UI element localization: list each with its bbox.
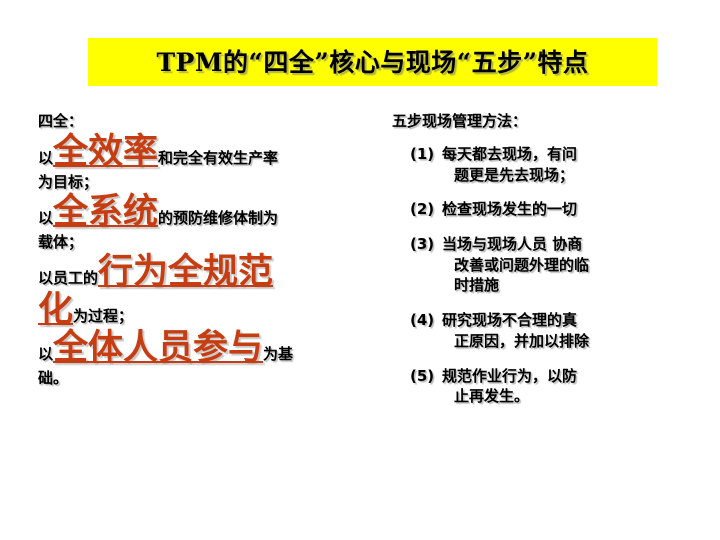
emphasis-run-all-system: 全系统 xyxy=(53,191,158,232)
list-item-line: 规范作业行为，以防 xyxy=(442,367,577,385)
plain-run: 以 xyxy=(38,345,53,363)
list-item-line: 改善或问题外理的临 xyxy=(442,256,589,274)
list-item-line: 时措施 xyxy=(442,276,499,294)
list-item-text: 当场与现场人员 协商 改善或问题外理的临 时措施 xyxy=(442,234,682,296)
list-item-line: 检查现场发生的一切 xyxy=(442,200,577,218)
five-steps-heading: 五步现场管理方法： xyxy=(392,112,682,130)
emphasis-run-behaviour-standardisation: 行为全规范 xyxy=(98,251,273,292)
list-item: (3) 当场与现场人员 协商 改善或问题外理的临 时措施 xyxy=(392,234,682,296)
list-item-line: 正原因，并加以排除 xyxy=(442,332,589,350)
plain-run: 的预防维修体制为 xyxy=(158,209,278,227)
list-item-text: 每天都去现场，有问 题更是先去现场； xyxy=(442,144,682,185)
list-item: (4) 研究现场不合理的真 正原因，并加以排除 xyxy=(392,310,682,351)
list-marker: (4) xyxy=(410,310,442,331)
list-marker: (2) xyxy=(410,199,442,220)
plain-run: 为基 xyxy=(263,345,293,363)
four-alls-text-flow: 以全效率和完全有效生产率 为目标； 以全系统的预防维修体制为 载体； 以员工的行… xyxy=(38,133,338,389)
plain-run: 为过程； xyxy=(73,307,133,325)
plain-run: 为目标； xyxy=(38,173,98,191)
five-steps-list: (1) 每天都去现场，有问 题更是先去现场； (2) 检查现场发生的一切 (3) xyxy=(392,144,682,407)
plain-run: 载体； xyxy=(38,233,83,251)
slide-body: 四全： 以全效率和完全有效生产率 为目标； 以全系统的预防维修体制为 载体； 以… xyxy=(0,112,720,442)
list-marker: (3) xyxy=(410,234,442,255)
plain-run: 以员工的 xyxy=(38,269,98,287)
list-item-line: 止再发生。 xyxy=(442,387,529,405)
list-item-line: 每天都去现场，有问 xyxy=(442,145,577,163)
list-item-text: 检查现场发生的一切 xyxy=(442,199,682,220)
plain-run: 以 xyxy=(38,209,53,227)
list-item: (5) 规范作业行为，以防 止再发生。 xyxy=(392,366,682,407)
slide-canvas: TPM的“四全”核心与现场“五步”特点 四全： 以全效率和完全有效生产率 为目标… xyxy=(0,0,720,540)
list-marker: (1) xyxy=(410,144,442,165)
page-title: TPM的“四全”核心与现场“五步”特点 xyxy=(156,50,588,75)
emphasis-run-standardisation-tail: 化 xyxy=(38,289,73,330)
list-item: (2) 检查现场发生的一切 xyxy=(392,199,682,220)
title-banner: TPM的“四全”核心与现场“五步”特点 xyxy=(88,38,657,86)
list-item-text: 研究现场不合理的真 正原因，并加以排除 xyxy=(442,310,682,351)
list-item: (1) 每天都去现场，有问 题更是先去现场； xyxy=(392,144,682,185)
emphasis-run-all-efficiency: 全效率 xyxy=(53,131,158,172)
plain-run: 础。 xyxy=(38,369,68,387)
list-item-line: 题更是先去现场； xyxy=(442,166,574,184)
five-steps-column: 五步现场管理方法： (1) 每天都去现场，有问 题更是先去现场； (2) 检查现… xyxy=(392,112,682,421)
emphasis-run-all-staff-participation: 全体人员参与 xyxy=(53,327,263,368)
plain-run: 和完全有效生产率 xyxy=(158,149,278,167)
list-item-text: 规范作业行为，以防 止再发生。 xyxy=(442,366,682,407)
list-marker: (5) xyxy=(410,366,442,387)
four-alls-column: 四全： 以全效率和完全有效生产率 为目标； 以全系统的预防维修体制为 载体； 以… xyxy=(38,112,338,389)
list-item-line: 研究现场不合理的真 xyxy=(442,311,577,329)
plain-run: 以 xyxy=(38,149,53,167)
list-item-line: 当场与现场人员 协商 xyxy=(442,235,582,253)
four-alls-heading: 四全： xyxy=(38,112,338,131)
